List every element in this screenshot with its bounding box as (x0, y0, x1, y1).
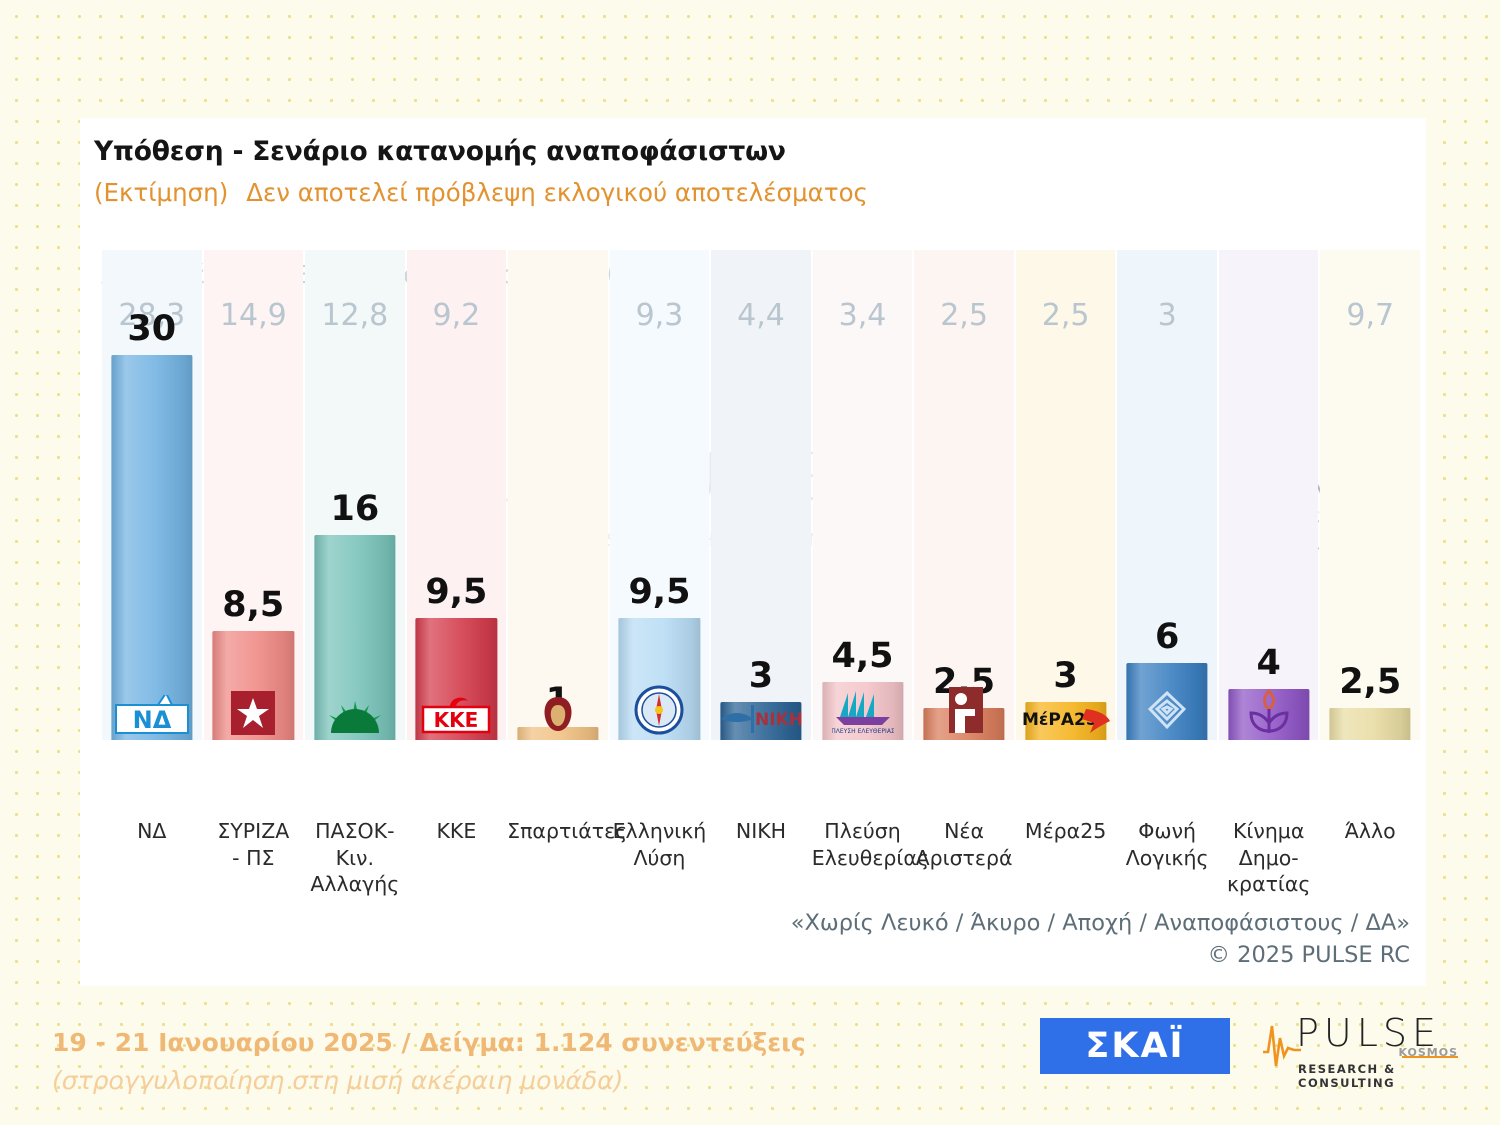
x-label-pleusi: ΠλεύσηΕλευθερίας (812, 818, 914, 871)
x-label-line: ΣΥΡΙΖΑ (203, 818, 305, 845)
bar-value-pasok: 16 (304, 489, 406, 529)
chart-column-niki[interactable]: 4,43ΝΙΚΗ (710, 250, 812, 805)
chart-column-foni[interactable]: 36 (1116, 250, 1218, 805)
x-label-line: Μέρα25 (1015, 818, 1117, 845)
euro-value-pleusi: 3,4 (812, 298, 914, 333)
chart-column-kinima[interactable]: 4 (1218, 250, 1320, 805)
skai-logo-text: ΣΚΑΪ (1085, 1026, 1184, 1066)
bar-allo[interactable] (1330, 708, 1411, 740)
nd-logo: ΝΔ (114, 695, 190, 739)
kinima-dimokratias-logo (1243, 683, 1295, 739)
x-label-line: Φωνή (1116, 818, 1218, 845)
chart-column-spartiates[interactable]: 1 (507, 250, 609, 805)
skai-logo: ΣΚΑΪ (1040, 1018, 1230, 1074)
euro-value-nea_arist: 2,5 (913, 298, 1015, 333)
page-title: Υπόθεση - Σενάριο κατανομής αναποφάσιστω… (94, 136, 786, 167)
svg-text:ΝΙΚΗ: ΝΙΚΗ (755, 710, 803, 730)
pasok-logo (319, 695, 391, 739)
bar-value-pleusi: 4,5 (812, 636, 914, 676)
bar-value-elliniki: 9,5 (609, 572, 711, 612)
spartiates-logo (531, 693, 585, 739)
column-band (508, 250, 608, 740)
nea-aristera-logo (941, 683, 987, 739)
euro-value-pasok: 12,8 (304, 298, 406, 333)
chart-plot-area: PULSE RESEARCH & CONSULTING Αποτελέσματα… (101, 250, 1421, 805)
chart-column-nd[interactable]: 28,330ΝΔ (101, 250, 203, 805)
euro-value-mera25: 2,5 (1015, 298, 1117, 333)
svg-text:ΚΚΕ: ΚΚΕ (434, 708, 479, 732)
foni-logikis-logo (1140, 687, 1194, 739)
chart-column-allo[interactable]: 9,72,5 (1319, 250, 1421, 805)
x-label-line: Πλεύση (812, 818, 914, 845)
x-label-line: - ΠΣ (203, 845, 305, 872)
x-label-mera25: Μέρα25 (1015, 818, 1117, 845)
bar-value-niki: 3 (710, 656, 812, 696)
pulse-logo: PULSE KOSMOS RESEARCH & CONSULTING (1262, 1014, 1458, 1080)
chart-column-pleusi[interactable]: 3,44,5ΠΛΕΥΣΗ ΕΛΕΥΘΕΡΙΑΣ (812, 250, 914, 805)
bar-value-nd: 30 (101, 309, 203, 349)
svg-text:ΝΔ: ΝΔ (132, 706, 171, 734)
syriza-logo (231, 691, 275, 739)
x-label-line: Νέα (913, 818, 1015, 845)
chart-column-syriza[interactable]: 14,98,5 (203, 250, 305, 805)
pulse-logo-kosmos: KOSMOS (1398, 1046, 1458, 1059)
x-label-syriza: ΣΥΡΙΖΑ- ΠΣ (203, 818, 305, 871)
kke-logo: ΚΚΕ (420, 693, 492, 739)
chart-column-pasok[interactable]: 12,816 (304, 250, 406, 805)
bar-value-syriza: 8,5 (203, 585, 305, 625)
x-label-line: Κίνημα (1218, 818, 1320, 845)
x-label-line: Ελευθερίας (812, 845, 914, 872)
x-label-line: Λογικής (1116, 845, 1218, 872)
pleusi-logo: ΠΛΕΥΣΗ ΕΛΕΥΘΕΡΙΑΣ (832, 687, 894, 739)
pulse-wave-logo-icon (1262, 1018, 1302, 1070)
bar-value-kke: 9,5 (406, 572, 508, 612)
x-label-allo: Άλλο (1319, 818, 1421, 845)
x-label-nd: ΝΔ (101, 818, 203, 845)
x-label-line: Ελληνική (609, 818, 711, 845)
x-label-line: Αριστερά (913, 845, 1015, 872)
chart-column-nea_arist[interactable]: 2,52,5 (913, 250, 1015, 805)
page-subtitle: (Εκτίμηση)Δεν αποτελεί πρόβλεψη εκλογικο… (94, 178, 868, 207)
x-label-line: Αλλαγής (304, 871, 406, 898)
x-label-line: Δημο- (1218, 845, 1320, 872)
euro-value-foni: 3 (1116, 298, 1218, 333)
elliniki-lysi-logo (634, 685, 684, 739)
x-label-line: ΠΑΣΟΚ-Κιν. (304, 818, 406, 871)
footer-rounding-note: (στρογγυλοποίηση στη μισή ακέραιη μονάδα… (52, 1062, 806, 1100)
bar-nd[interactable] (111, 355, 192, 740)
x-label-line: Λύση (609, 845, 711, 872)
x-label-line: ΝΔ (101, 818, 203, 845)
footnote-line-1: «Χωρίς Λευκό / Άκυρο / Αποχή / Αναποφάσι… (791, 907, 1410, 940)
x-label-nea_arist: ΝέαΑριστερά (913, 818, 1015, 871)
x-label-pasok: ΠΑΣΟΚ-Κιν.Αλλαγής (304, 818, 406, 898)
page-footer: 19 - 21 Ιανουαρίου 2025 / Δείγμα: 1.124 … (52, 1024, 806, 1099)
bar-value-allo: 2,5 (1319, 662, 1421, 702)
x-label-line: Σπαρτιάτες (507, 818, 609, 845)
chart-column-elliniki[interactable]: 9,39,5 (609, 250, 711, 805)
footer-date-sample: 19 - 21 Ιανουαρίου 2025 / Δείγμα: 1.124 … (52, 1024, 806, 1062)
subtitle-disclaimer: Δεν αποτελεί πρόβλεψη εκλογικού αποτελέσ… (246, 178, 868, 207)
bar-value-foni: 6 (1116, 617, 1218, 657)
x-label-foni: ΦωνήΛογικής (1116, 818, 1218, 871)
chart-footnote: «Χωρίς Λευκό / Άκυρο / Αποχή / Αναποφάσι… (791, 907, 1410, 972)
bar-value-mera25: 3 (1015, 656, 1117, 696)
chart-card: Υπόθεση - Σενάριο κατανομής αναποφάσιστω… (80, 118, 1426, 986)
chart-column-kke[interactable]: 9,29,5ΚΚΕ (406, 250, 508, 805)
euro-value-syriza: 14,9 (203, 298, 305, 333)
bar-value-kinima: 4 (1218, 643, 1320, 683)
mera25-logo: ΜέΡΑ25 (1020, 703, 1112, 739)
chart-column-mera25[interactable]: 2,53ΜέΡΑ25 (1015, 250, 1117, 805)
x-label-kinima: ΚίνημαΔημο-κρατίας (1218, 818, 1320, 898)
x-label-niki: ΝΙΚΗ (710, 818, 812, 845)
x-label-elliniki: ΕλληνικήΛύση (609, 818, 711, 871)
niki-logo: ΝΙΚΗ (719, 701, 803, 739)
svg-text:ΠΛΕΥΣΗ ΕΛΕΥΘΕΡΙΑΣ: ΠΛΕΥΣΗ ΕΛΕΥΘΕΡΙΑΣ (832, 728, 894, 735)
x-label-line: κρατίας (1218, 871, 1320, 898)
subtitle-estimate: (Εκτίμηση) (94, 178, 228, 207)
pulse-logo-subtitle: RESEARCH & CONSULTING (1298, 1062, 1458, 1090)
x-label-spartiates: Σπαρτιάτες (507, 818, 609, 845)
euro-value-elliniki: 9,3 (609, 298, 711, 333)
euro-value-allo: 9,7 (1319, 298, 1421, 333)
euro-value-niki: 4,4 (710, 298, 812, 333)
x-label-line: ΚΚΕ (406, 818, 508, 845)
x-label-line: Άλλο (1319, 818, 1421, 845)
euro-value-kke: 9,2 (406, 298, 508, 333)
x-label-kke: ΚΚΕ (406, 818, 508, 845)
footnote-line-2: © 2025 PULSE RC (791, 939, 1410, 972)
x-label-line: ΝΙΚΗ (710, 818, 812, 845)
